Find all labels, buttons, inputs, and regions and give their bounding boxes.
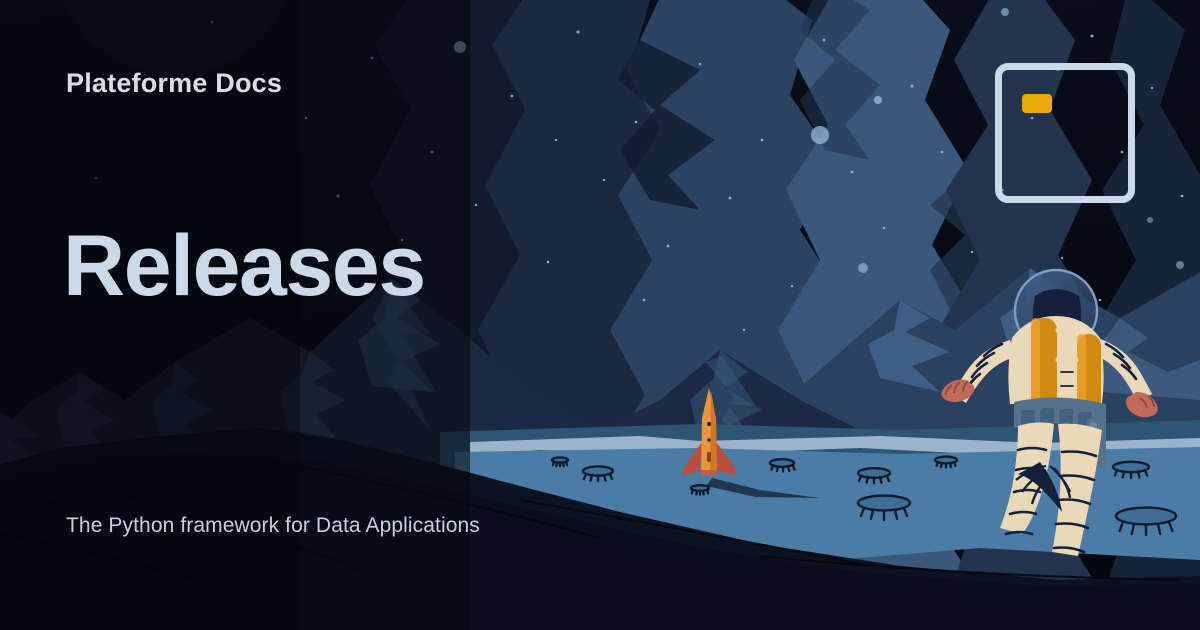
tagline-text: The Python framework for Data Applicatio… [66,514,480,538]
logo-chip-icon [1022,94,1052,113]
rocket-porthole [707,422,711,426]
rocket-porthole [707,438,710,441]
brand-label: Plateforme Docs [66,68,282,99]
plateforme-logo[interactable] [995,63,1135,203]
page-title: Releases [63,223,425,309]
share-card: Plateforme Docs Releases The Python fram… [0,0,1200,630]
rocket-hatch [707,452,711,462]
